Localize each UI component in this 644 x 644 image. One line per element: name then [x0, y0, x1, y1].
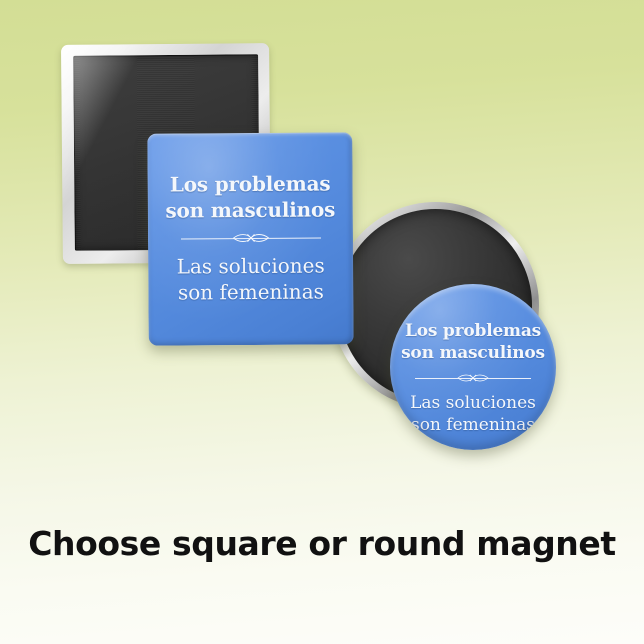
- flourish-icon: [228, 231, 272, 245]
- ornament-divider-icon: [180, 231, 320, 246]
- quote-line-3: Las soluciones: [148, 252, 353, 279]
- square-magnet-quote: Los problemas son masculinos Las solucio…: [148, 170, 354, 305]
- square-magnet-front[interactable]: Los problemas son masculinos Las solucio…: [147, 132, 353, 345]
- product-photo: Los problemas son masculinos Las solucio…: [0, 0, 644, 644]
- round-magnet-front[interactable]: Los problemas son masculinos Las solucio…: [390, 284, 556, 450]
- flourish-icon: [454, 372, 492, 384]
- round-magnet-quote: Los problemas son masculinos Las solucio…: [390, 320, 556, 436]
- ornament-divider-icon: [415, 371, 531, 385]
- caption-text: Choose square or round magnet: [0, 524, 644, 563]
- quote-line-2: son masculinos: [390, 342, 556, 364]
- quote-line-4: son femeninas: [390, 414, 556, 436]
- quote-line-1: Los problemas: [148, 170, 353, 197]
- quote-line-2: son masculinos: [148, 196, 353, 223]
- quote-line-4: son femeninas: [148, 278, 353, 305]
- quote-line-3: Las soluciones: [390, 392, 556, 414]
- quote-line-1: Los problemas: [390, 320, 556, 342]
